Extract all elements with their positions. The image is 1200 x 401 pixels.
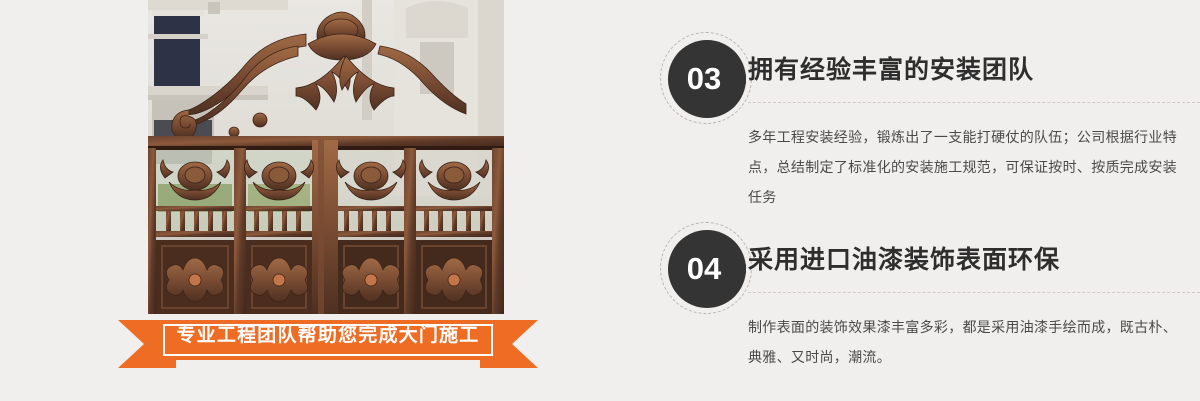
feature-badge-03: 03	[660, 32, 756, 128]
feature-title-03: 拥有经验丰富的安装团队	[748, 50, 1034, 86]
feature-body-03: 多年工程安装经验，锻炼出了一支能打硬仗的队伍；公司根据行业特点，总结制定了标准化…	[748, 122, 1180, 212]
badge-number-03: 03	[668, 40, 740, 118]
feature-badge-04: 04	[660, 222, 756, 318]
feature-title-04: 采用进口油漆装饰表面环保	[748, 240, 1060, 276]
gate-photo-illustration	[148, 0, 504, 314]
gate-photo	[148, 0, 504, 314]
ribbon-banner: 专业工程团队帮助您完成大门施工	[118, 312, 538, 368]
feature-body-04: 制作表面的装饰效果漆丰富多彩，都是采用油漆手绘而成，既古朴、典雅、又时尚，潮流。	[748, 312, 1180, 372]
feature-list: 03 拥有经验丰富的安装团队 多年工程安装经验，锻炼出了一支能打硬仗的队伍；公司…	[660, 0, 1200, 401]
feature-divider-03	[748, 102, 1200, 103]
feature-divider-04	[748, 292, 1200, 293]
promo-banner: 专业工程团队帮助您完成大门施工 03 拥有经验丰富的安装团队 多年工程安装经验，…	[0, 0, 1200, 401]
ribbon-label: 专业工程团队帮助您完成大门施工	[118, 312, 538, 360]
badge-number-04: 04	[668, 230, 740, 308]
